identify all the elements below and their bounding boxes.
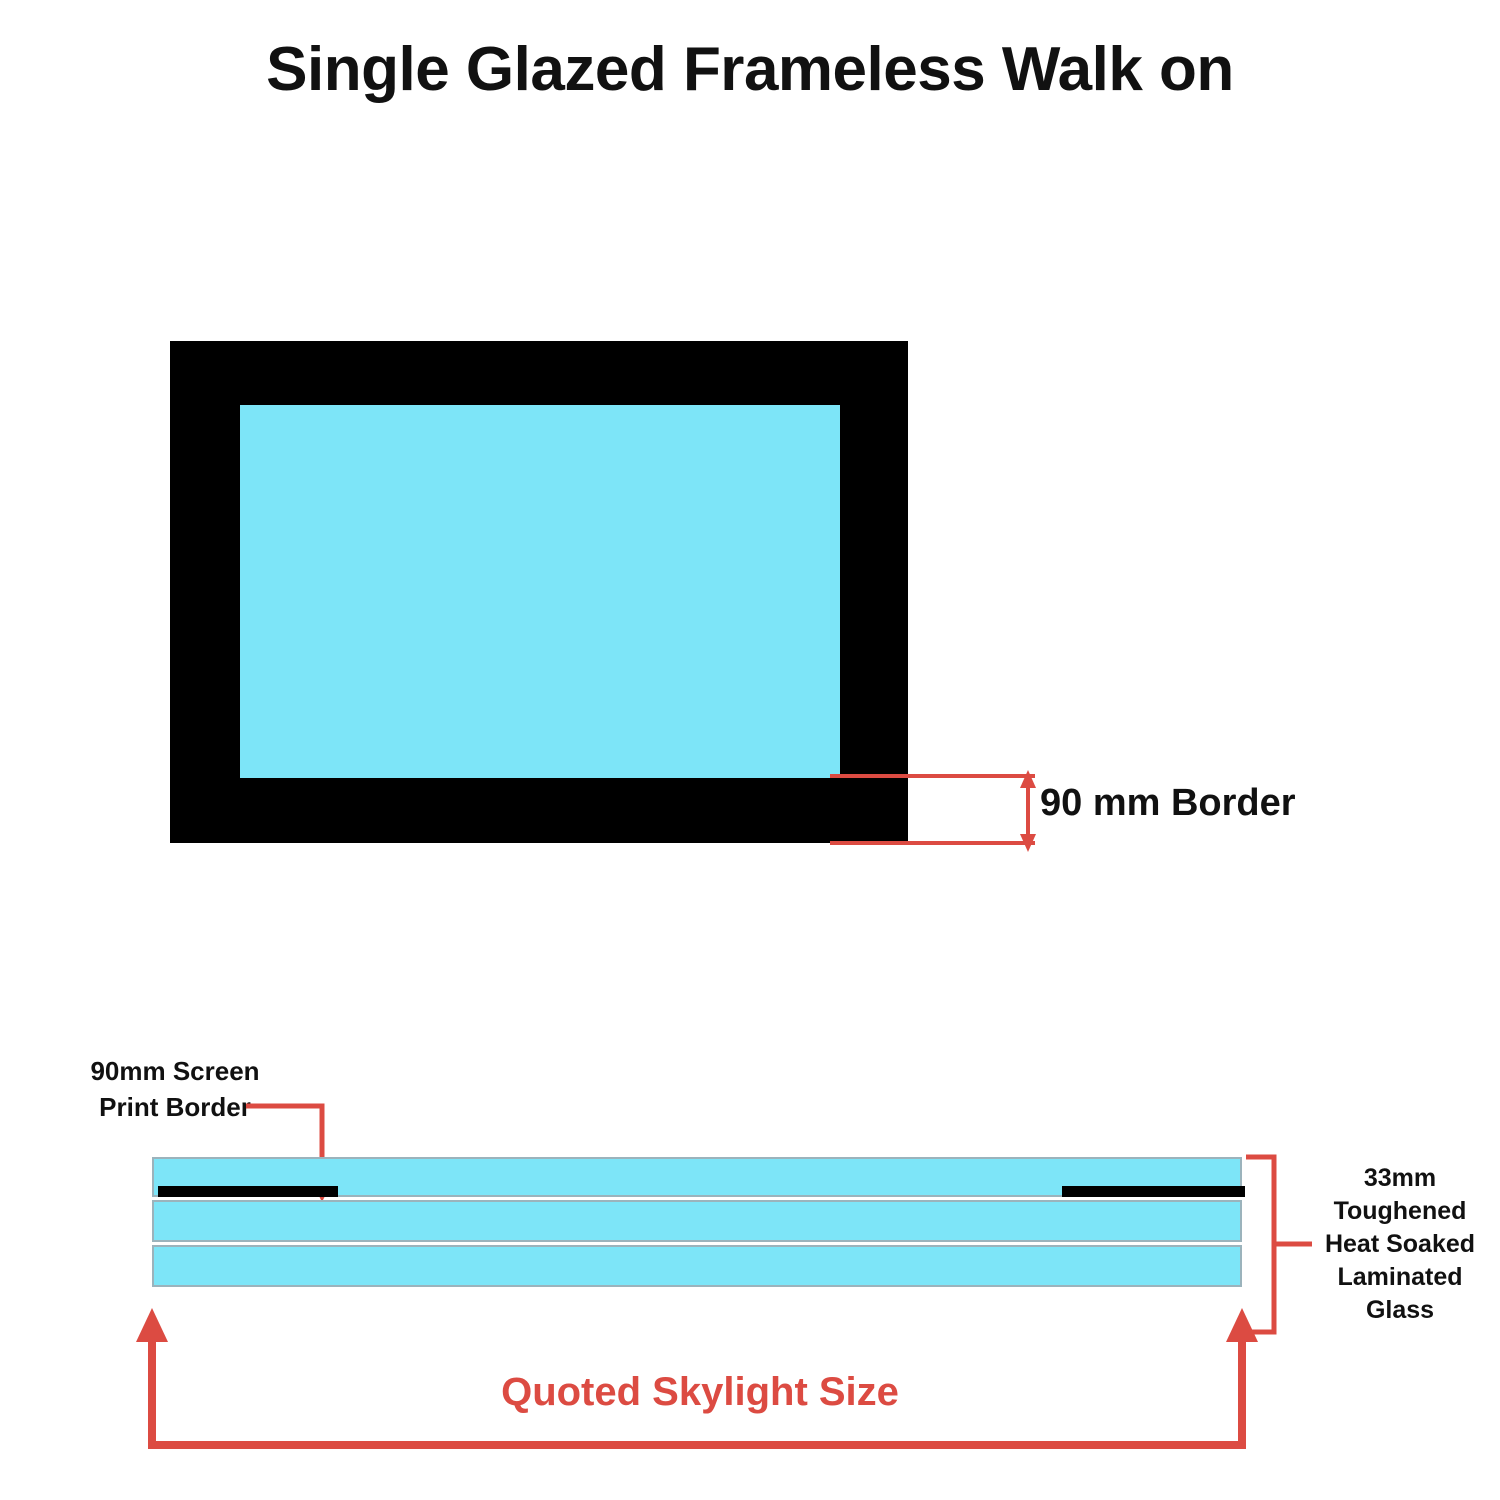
plan-view	[170, 341, 908, 843]
screen-print-bar-left	[158, 1186, 338, 1197]
page-title: Single Glazed Frameless Walk on	[0, 34, 1500, 105]
border-dimension-callout: 90 mm Border	[830, 760, 1250, 860]
screen-print-bar-right	[1062, 1186, 1245, 1197]
section-view: 90mm Screen Print Border 33mm Toughened …	[0, 1040, 1500, 1440]
border-dimension-label: 90 mm Border	[1040, 782, 1296, 825]
glass-thickness-line-1: 33mm	[1300, 1162, 1500, 1195]
screen-print-callout-line-1: 90mm Screen	[60, 1053, 290, 1089]
glass-thickness-line-2: Toughened	[1300, 1195, 1500, 1228]
skylight-specification-diagram: Single Glazed Frameless Walk on 90 mm Bo…	[0, 0, 1500, 1500]
glass-thickness-line-4: Laminated Glass	[1300, 1261, 1500, 1327]
quoted-skylight-size-label: Quoted Skylight Size	[0, 1370, 1400, 1415]
glass-thickness-line-3: Heat Soaked	[1300, 1228, 1500, 1261]
glass-layer-middle	[152, 1200, 1242, 1242]
clear-glass-area	[240, 405, 840, 778]
glass-thickness-label: 33mm Toughened Heat Soaked Laminated Gla…	[1300, 1162, 1500, 1327]
dimension-extension-line-bottom	[830, 841, 1035, 845]
dimension-extension-line-top	[830, 774, 1035, 778]
